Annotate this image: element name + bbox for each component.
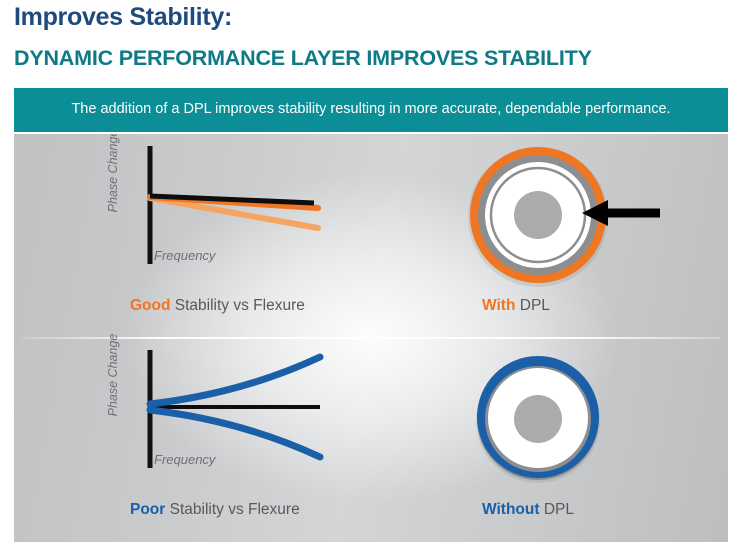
chart-good-stability: Phase Change Frequency bbox=[92, 140, 332, 290]
caption-with-dpl: With DPL bbox=[482, 297, 550, 315]
page-subtitle: DYNAMIC PERFORMANCE LAYER IMPROVES STABI… bbox=[14, 46, 592, 71]
caption-rest: DPL bbox=[540, 501, 574, 518]
caption-without-dpl: Without DPL bbox=[482, 501, 574, 519]
series-flexed-down bbox=[150, 410, 320, 457]
caption-highlight: Poor bbox=[130, 501, 165, 518]
chart-poor-stability: Phase Change Frequency bbox=[92, 344, 332, 494]
caption-highlight: With bbox=[482, 297, 515, 314]
center-conductor bbox=[514, 395, 562, 443]
center-conductor bbox=[514, 191, 562, 239]
y-axis-label: Phase Change bbox=[106, 320, 120, 430]
caption-highlight: Without bbox=[482, 501, 540, 518]
cable-with-dpl-svg bbox=[462, 142, 722, 292]
y-axis-label: Phase Change bbox=[106, 134, 120, 226]
x-axis-label: Frequency bbox=[154, 452, 215, 467]
caption-rest: Stability vs Flexure bbox=[165, 501, 299, 518]
cable-cross-section-without-dpl bbox=[462, 346, 722, 496]
cable-without-dpl-svg bbox=[462, 346, 722, 496]
cable-cross-section-with-dpl bbox=[462, 142, 722, 292]
info-banner-text: The addition of a DPL improves stability… bbox=[14, 101, 728, 117]
panel-row-good: Phase Change Frequency Good Stability vs… bbox=[14, 134, 728, 338]
info-banner: The addition of a DPL improves stability… bbox=[14, 88, 728, 132]
x-axis-label: Frequency bbox=[154, 248, 215, 263]
caption-highlight: Good bbox=[130, 297, 170, 314]
chart-good-stability-svg bbox=[92, 140, 332, 290]
caption-rest: DPL bbox=[515, 297, 549, 314]
panel-row-poor: Phase Change Frequency Poor Stability vs… bbox=[14, 338, 728, 542]
illustration-panel: Phase Change Frequency Good Stability vs… bbox=[14, 134, 728, 542]
caption-good-stability: Good Stability vs Flexure bbox=[130, 297, 305, 315]
caption-rest: Stability vs Flexure bbox=[170, 297, 304, 314]
chart-poor-stability-svg bbox=[92, 344, 332, 494]
page-title: Improves Stability: bbox=[14, 3, 232, 32]
series-flexed-up bbox=[150, 357, 320, 404]
caption-poor-stability: Poor Stability vs Flexure bbox=[130, 501, 300, 519]
